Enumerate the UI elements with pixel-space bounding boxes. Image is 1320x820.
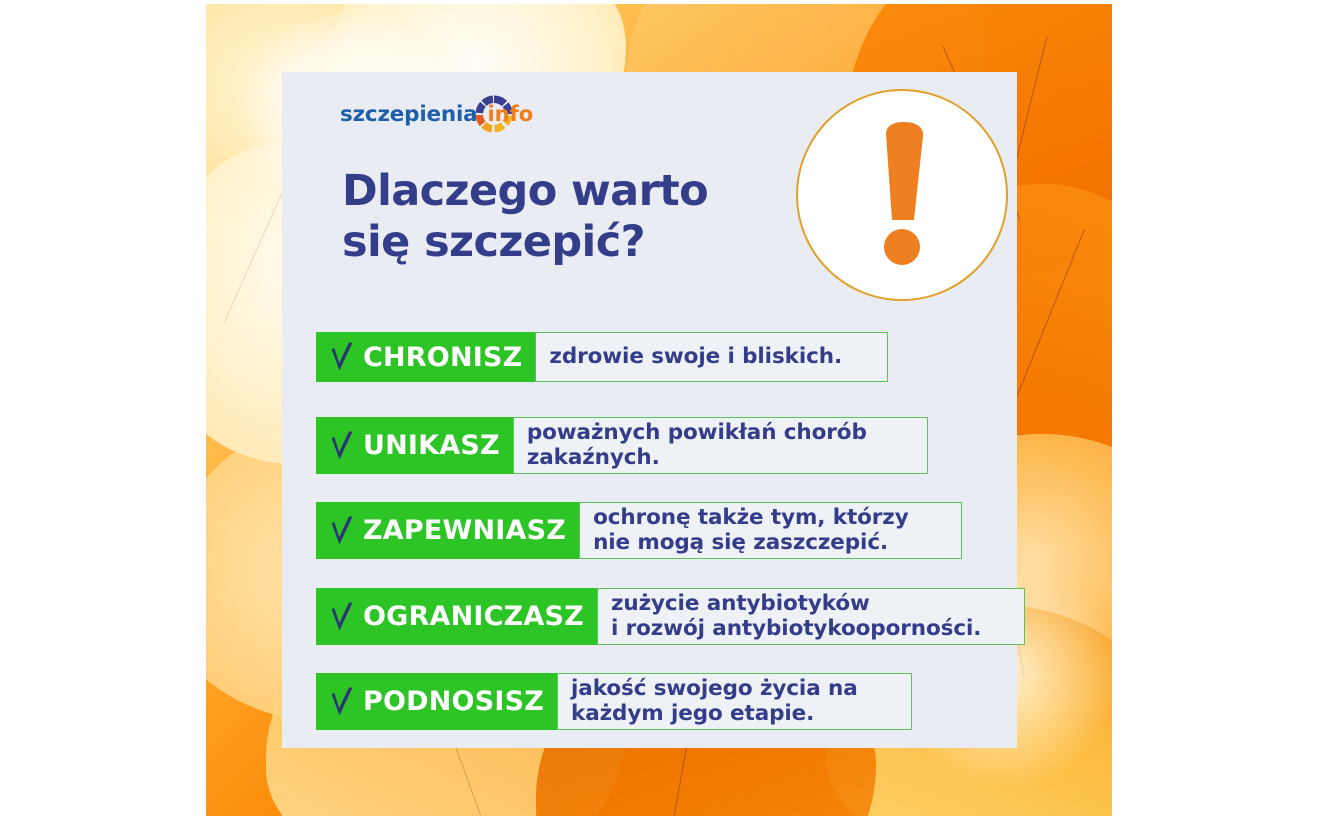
benefit-tag-label: PODNOSISZ <box>359 686 557 717</box>
benefit-desc-line: zakaźnych. <box>527 445 660 470</box>
benefit-tag-label: UNIKASZ <box>359 430 513 461</box>
benefit-tag: PODNOSISZ <box>316 673 557 730</box>
benefit-description: jakość swojego życia na każdym jego etap… <box>557 673 912 730</box>
checkmark-icon <box>325 340 359 374</box>
benefit-desc-lines: poważnych powikłań chorób zakaźnych. <box>527 421 867 471</box>
benefit-row[interactable]: CHRONISZ zdrowie swoje i bliskich. <box>316 332 888 382</box>
benefit-row[interactable]: ZAPEWNIASZ ochronę także tym, którzy nie… <box>316 502 962 559</box>
benefit-row[interactable]: OGRANICZASZ zużycie antybiotyków i rozwó… <box>316 588 1025 645</box>
benefit-desc-line: jakość swojego życia na <box>571 676 858 701</box>
benefit-desc-lines: jakość swojego życia na każdym jego etap… <box>571 677 858 727</box>
benefit-tag-label: ZAPEWNIASZ <box>359 515 579 546</box>
logo-info-text: info <box>487 102 533 126</box>
benefit-tag-label: OGRANICZASZ <box>359 601 597 632</box>
benefit-description: zużycie antybiotyków i rozwój antybiotyk… <box>597 588 1025 645</box>
benefit-tag: OGRANICZASZ <box>316 588 597 645</box>
benefit-description: zdrowie swoje i bliskich. <box>535 332 888 382</box>
page-title: Dlaczego warto się szczepić? <box>342 166 772 267</box>
benefit-tag-label: CHRONISZ <box>359 342 535 373</box>
benefit-desc-lines: zużycie antybiotyków i rozwój antybiotyk… <box>611 592 981 642</box>
checkmark-icon <box>325 429 359 463</box>
benefit-desc-line: nie mogą się zaszczepić. <box>593 530 888 555</box>
exclamation-mark-icon <box>862 120 942 270</box>
benefit-desc-line: każdym jego etapie. <box>571 701 814 726</box>
title-line-2: się szczepić? <box>342 217 772 268</box>
benefit-desc-line: ochronę także tym, którzy <box>593 505 909 530</box>
benefit-row[interactable]: UNIKASZ poważnych powikłań chorób zakaźn… <box>316 417 928 474</box>
benefit-desc-line: zdrowie swoje i bliskich. <box>549 345 842 370</box>
benefit-desc-line: i rozwój antybiotykooporności. <box>611 616 981 641</box>
checkmark-icon <box>325 514 359 548</box>
benefit-row[interactable]: PODNOSISZ jakość swojego życia na każdym… <box>316 673 912 730</box>
benefit-desc-line: zużycie antybiotyków <box>611 591 870 616</box>
benefit-desc-line: poważnych powikłań chorób <box>527 420 867 445</box>
logo-wordmark: szczepienia <box>340 102 477 127</box>
exclamation-badge <box>796 89 1008 301</box>
benefit-tag: UNIKASZ <box>316 417 513 474</box>
poster-canvas: szczepienia info <box>0 0 1320 820</box>
checkmark-icon <box>325 685 359 719</box>
benefit-tag: CHRONISZ <box>316 332 535 382</box>
title-line-1: Dlaczego warto <box>342 166 772 217</box>
benefit-description: ochronę także tym, którzy nie mogą się z… <box>579 502 962 559</box>
benefit-description: poważnych powikłań chorób zakaźnych. <box>513 417 928 474</box>
benefit-desc-lines: ochronę także tym, którzy nie mogą się z… <box>593 506 909 556</box>
logo[interactable]: szczepienia info <box>340 94 533 134</box>
content-card: szczepienia info <box>282 72 1017 748</box>
checkmark-icon <box>325 600 359 634</box>
benefit-tag: ZAPEWNIASZ <box>316 502 579 559</box>
